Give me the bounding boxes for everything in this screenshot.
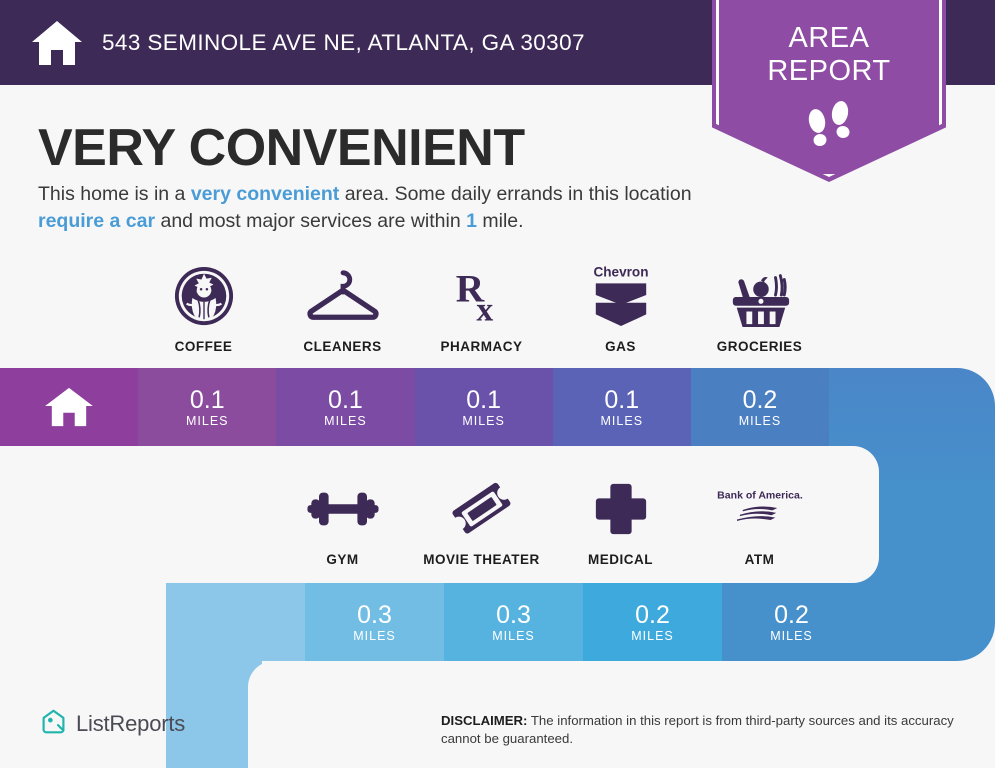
page-title: VERY CONVENIENT [38, 118, 525, 178]
subtitle-part-1: This home is in a [38, 183, 191, 205]
distance-unit: MILES [631, 629, 674, 643]
medical-cross-icon [592, 475, 650, 543]
rx-icon: R x [452, 262, 512, 330]
subtitle-part-3: and most major services are within [155, 210, 466, 232]
home-icon [30, 19, 84, 67]
amenity-label: MEDICAL [588, 552, 653, 567]
badge-line-2: REPORT [712, 55, 946, 88]
distance-unit: MILES [462, 414, 505, 428]
badge-line-1: AREA [712, 22, 946, 55]
amenity-atm: Bank of America. ATM [690, 475, 829, 567]
amenity-pharmacy: R x PHARMACY [412, 262, 551, 354]
amenity-icon-row-1: COFFEE CLEANERS R x PHARMACY Chevron [134, 262, 829, 354]
ticket-icon [450, 475, 514, 543]
subtitle-highlight-1: very convenient [191, 183, 339, 205]
amenity-cleaners: CLEANERS [273, 262, 412, 354]
distance-cell-medical: 0.2 MILES [583, 583, 722, 661]
amenity-movie-theater: MOVIE THEATER [412, 475, 551, 567]
listreports-wordmark: ListReports [76, 711, 185, 737]
property-address: 543 SEMINOLE AVE NE, ATLANTA, GA 30307 [102, 30, 585, 56]
distance-cell-gas: 0.1 MILES [553, 368, 691, 446]
amenity-gas: Chevron GAS [551, 262, 690, 354]
amenity-medical: MEDICAL [551, 475, 690, 567]
amenity-gym: GYM [273, 475, 412, 567]
distance-cell-groceries: 0.2 MILES [691, 368, 829, 446]
distance-value: 0.2 [774, 602, 809, 628]
distance-cell-cleaners: 0.1 MILES [276, 368, 414, 446]
distance-unit: MILES [492, 629, 535, 643]
svg-text:Chevron: Chevron [593, 265, 648, 280]
disclaimer-label: DISCLAIMER: [441, 713, 527, 728]
distance-value: 0.2 [743, 387, 778, 413]
distance-value: 0.3 [357, 602, 392, 628]
distance-bar-row-1: 0.1 MILES 0.1 MILES 0.1 MILES 0.1 MILES … [0, 368, 829, 446]
svg-text:x: x [476, 291, 493, 326]
amenity-label: CLEANERS [303, 339, 381, 354]
distance-unit: MILES [324, 414, 367, 428]
distance-value: 0.3 [496, 602, 531, 628]
subtitle-highlight-2: require a car [38, 210, 155, 232]
subtitle-highlight-3: 1 [466, 210, 477, 232]
svg-text:Bank of America.: Bank of America. [717, 489, 803, 501]
footprints-icon [712, 98, 946, 155]
starbucks-logo-icon [173, 262, 235, 330]
amenity-label: MOVIE THEATER [423, 552, 540, 567]
amenity-label: GROCERIES [717, 339, 803, 354]
amenity-icon-row-2: GYM MOVIE THEATER MEDICAL Bank of Americ… [273, 475, 829, 567]
distance-cell-gym: 0.3 MILES [305, 583, 444, 661]
distance-unit: MILES [353, 629, 396, 643]
distance-cell-pharmacy: 0.1 MILES [415, 368, 553, 446]
distance-cell-movie-theater: 0.3 MILES [444, 583, 583, 661]
amenity-label: COFFEE [175, 339, 233, 354]
amenity-label: PHARMACY [440, 339, 522, 354]
bar-left-band-notch [248, 661, 308, 768]
amenity-coffee: COFFEE [134, 262, 273, 354]
distance-value: 0.1 [190, 387, 225, 413]
listreports-logo: ListReports [40, 708, 185, 740]
home-icon [43, 386, 95, 428]
amenity-label: GAS [605, 339, 636, 354]
disclaimer: DISCLAIMER: The information in this repo… [441, 712, 986, 748]
dumbbell-icon [305, 475, 381, 543]
bank-of-america-logo-icon: Bank of America. [714, 475, 806, 543]
distance-unit: MILES [186, 414, 229, 428]
distance-value: 0.1 [328, 387, 363, 413]
amenity-label: GYM [326, 552, 358, 567]
distance-value: 0.1 [466, 387, 501, 413]
distance-value: 0.2 [635, 602, 670, 628]
amenity-groceries: GROCERIES [690, 262, 829, 354]
distance-cell-coffee: 0.1 MILES [138, 368, 276, 446]
chevron-logo-icon: Chevron [584, 262, 658, 330]
hanger-icon [304, 262, 382, 330]
distance-unit: MILES [601, 414, 644, 428]
area-report-badge: AREA REPORT [712, 0, 946, 182]
basket-icon [725, 262, 795, 330]
subtitle-part-2: area. Some daily errands in this locatio… [339, 183, 691, 205]
distance-unit: MILES [739, 414, 782, 428]
distance-cell-atm: 0.2 MILES [722, 583, 861, 661]
subtitle-part-4: mile. [477, 210, 524, 232]
distance-bar-row-2: 0.3 MILES 0.3 MILES 0.2 MILES 0.2 MILES [166, 583, 995, 661]
bar-home-marker [0, 368, 138, 446]
listreports-house-tag-icon [40, 708, 67, 740]
distance-unit: MILES [770, 629, 813, 643]
distance-value: 0.1 [604, 387, 639, 413]
page-subtitle: This home is in a very convenient area. … [38, 181, 698, 235]
badge-title: AREA REPORT [712, 22, 946, 88]
amenity-label: ATM [745, 552, 775, 567]
